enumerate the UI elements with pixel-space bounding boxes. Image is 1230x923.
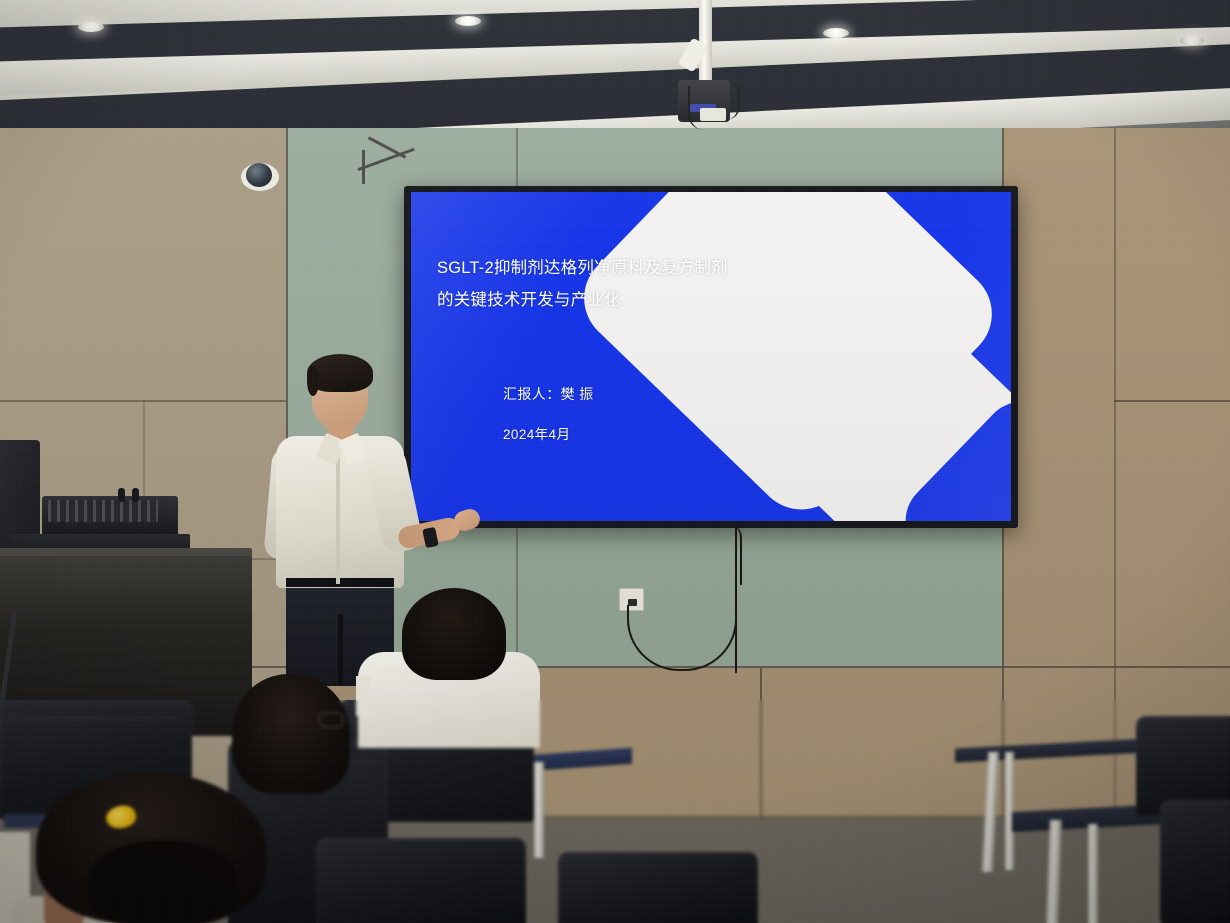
desk-leg [534, 762, 544, 858]
presenter-shirt-placket [336, 452, 340, 584]
slide-date-line: 2024年4月 [503, 423, 570, 443]
projector-cable [688, 86, 704, 130]
ceiling-downlight [1180, 36, 1204, 45]
lecture-room-photo: SGLT-2抑制剂达格列净原料及复方制剂 的关键技术开发与产业化 汇报人：樊 振… [0, 0, 1230, 923]
chair [316, 838, 526, 923]
display-wall-bracket [356, 140, 420, 184]
presenter-hair-side [307, 366, 319, 396]
ceiling-downlight [78, 22, 104, 32]
slide-presenter-line: 汇报人：樊 振 [503, 384, 594, 404]
presentation-slide: SGLT-2抑制剂达格列净原料及复方制剂 的关键技术开发与产业化 汇报人：樊 振… [411, 192, 1011, 521]
presenter-belt [286, 578, 394, 587]
display-panel: SGLT-2抑制剂达格列净原料及复方制剂 的关键技术开发与产业化 汇报人：樊 振… [411, 192, 1011, 521]
seated-attendee-sleeve [356, 676, 370, 716]
foreground-attendee-hair [88, 840, 238, 923]
slide-title-line2: 的关键技术开发与产业化 [437, 284, 809, 316]
ceiling-downlight [455, 16, 481, 26]
seated-attendee-head [402, 588, 506, 680]
desk-leg [1088, 824, 1098, 923]
chair [558, 852, 758, 923]
seated-attendee-head [232, 674, 350, 794]
mixer-faders[interactable] [48, 500, 158, 522]
slide-title-line1: SGLT-2抑制剂达格列净原料及复方制剂 [437, 252, 809, 284]
presenter-trouser-seam [338, 614, 343, 686]
eyeglasses [318, 712, 344, 728]
ceiling-downlight [823, 28, 849, 38]
mixer-knob[interactable] [132, 488, 139, 502]
slide-title: SGLT-2抑制剂达格列净原料及复方制剂 的关键技术开发与产业化 [437, 252, 809, 316]
hanging-cable [730, 525, 742, 585]
wall-mounted-display[interactable]: SGLT-2抑制剂达格列净原料及复方制剂 的关键技术开发与产业化 汇报人：樊 振… [404, 186, 1018, 528]
mixer-knob[interactable] [118, 488, 125, 502]
chair [1160, 800, 1230, 923]
dome-security-camera [241, 157, 279, 191]
